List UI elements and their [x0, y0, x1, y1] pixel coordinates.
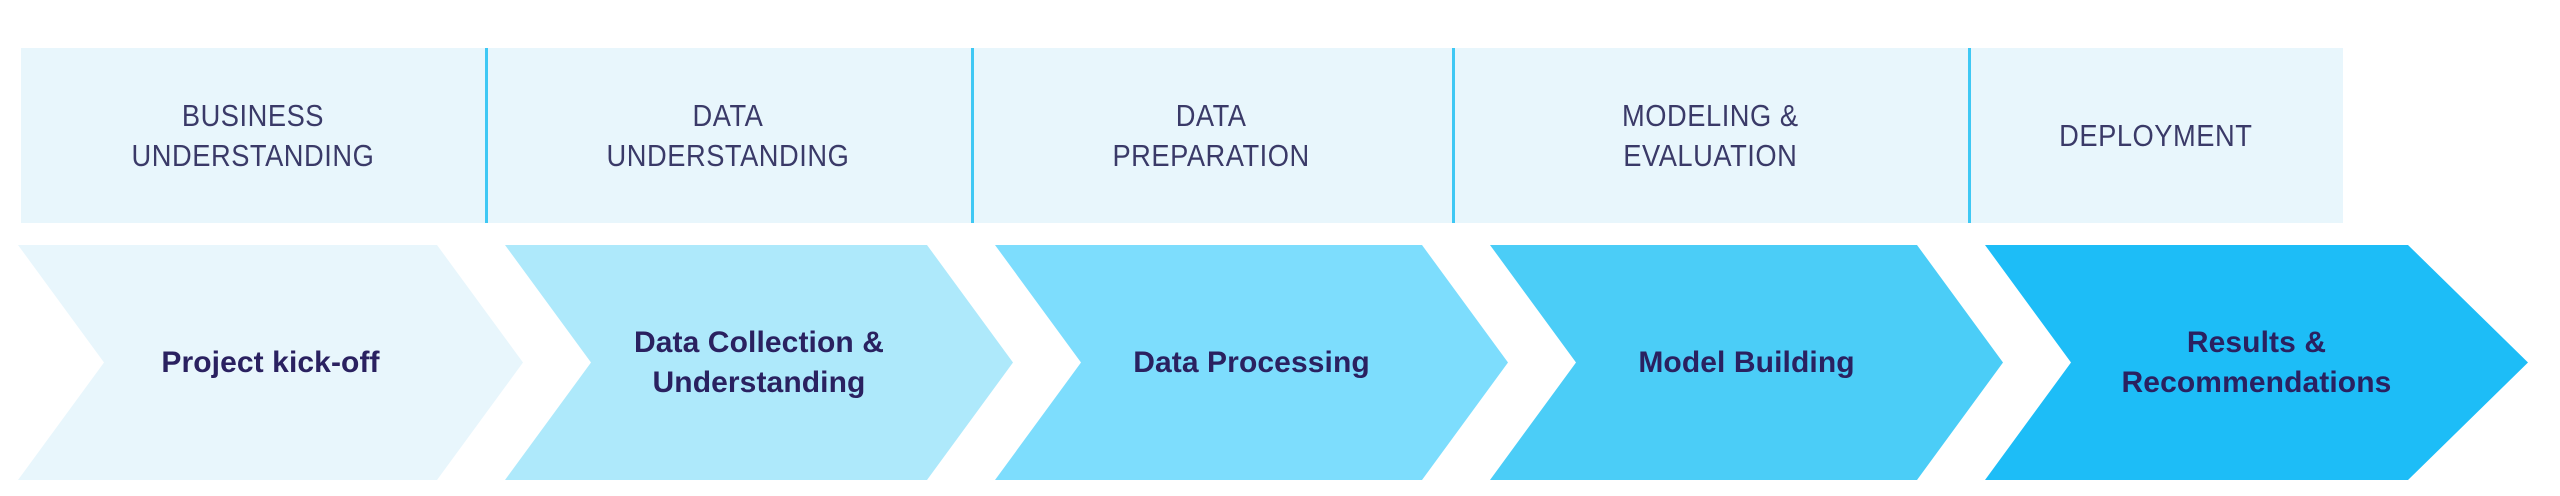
phase-header-label: DEPLOYMENT	[2059, 116, 2252, 156]
chevron-step-label: Data Processing	[1133, 343, 1370, 383]
chevron-step-results-recommendations[interactable]: Results & Recommendations	[1985, 245, 2528, 480]
chevron-step-data-collection-understanding[interactable]: Data Collection & Understanding	[505, 245, 1013, 480]
chevron-step-label: Model Building	[1638, 343, 1854, 383]
phase-header-label: DATA UNDERSTANDING	[607, 96, 850, 175]
phase-header-label: DATA PREPARATION	[1113, 96, 1310, 175]
phase-header-band: BUSINESS UNDERSTANDING DATA UNDERSTANDIN…	[21, 48, 2343, 223]
phase-header-deployment[interactable]: DEPLOYMENT	[1968, 48, 2343, 223]
phase-header-label: BUSINESS UNDERSTANDING	[132, 96, 375, 175]
phase-header-label: MODELING & EVALUATION	[1622, 96, 1799, 175]
phase-header-business-understanding[interactable]: BUSINESS UNDERSTANDING	[21, 48, 485, 223]
chevron-step-label: Results & Recommendations	[2122, 323, 2392, 402]
chevron-step-data-processing[interactable]: Data Processing	[995, 245, 1508, 480]
phase-chevron-band: Project kick-off Data Collection & Under…	[0, 245, 2560, 480]
process-flow-diagram: BUSINESS UNDERSTANDING DATA UNDERSTANDIN…	[0, 0, 2560, 496]
phase-header-data-understanding[interactable]: DATA UNDERSTANDING	[485, 48, 971, 223]
chevron-step-project-kick-off[interactable]: Project kick-off	[18, 245, 523, 480]
chevron-step-label: Data Collection & Understanding	[634, 323, 884, 402]
chevron-step-model-building[interactable]: Model Building	[1490, 245, 2003, 480]
phase-header-data-preparation[interactable]: DATA PREPARATION	[971, 48, 1452, 223]
phase-header-modeling-evaluation[interactable]: MODELING & EVALUATION	[1452, 48, 1968, 223]
chevron-step-label: Project kick-off	[161, 343, 379, 383]
